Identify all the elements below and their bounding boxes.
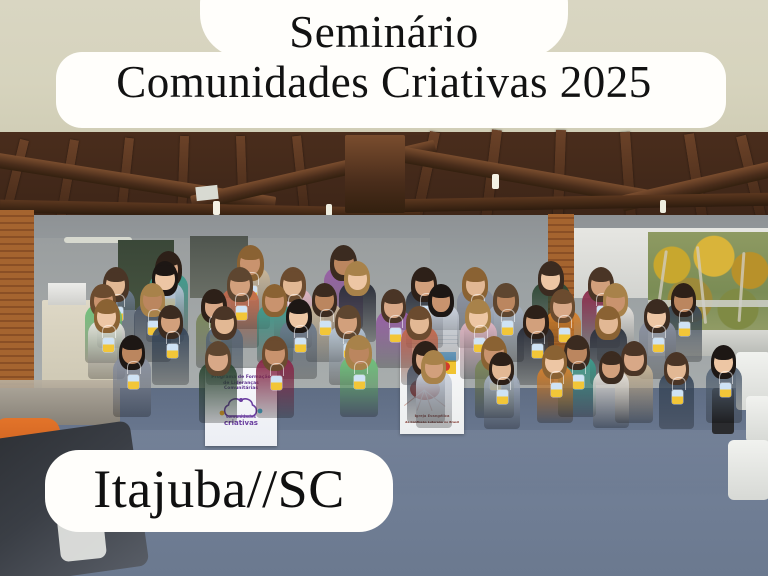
- person-hair-fringe: [424, 354, 443, 364]
- lanyard: [719, 371, 733, 384]
- name-badge: [720, 383, 731, 397]
- city-label-pill: Itajuba//SC: [45, 450, 393, 532]
- lanyard: [389, 315, 403, 328]
- person-hair-fringe: [283, 271, 303, 282]
- lanyard: [294, 325, 308, 338]
- person-hair-fringe: [465, 271, 485, 282]
- person-hair-fringe: [333, 249, 354, 260]
- person-hair-fringe: [161, 309, 181, 319]
- person-hair-fringe: [106, 272, 126, 283]
- lanyard: [102, 325, 116, 338]
- lanyard: [672, 377, 686, 390]
- person: [265, 339, 312, 433]
- person-hair-fringe: [214, 310, 234, 320]
- person-hair-fringe: [122, 339, 143, 350]
- person-hair-fringe: [265, 340, 286, 351]
- person-hair-fringe: [602, 355, 621, 365]
- person: [545, 348, 589, 436]
- person: [349, 337, 396, 431]
- plastic-chair: [728, 440, 768, 500]
- name-badge: [103, 338, 114, 352]
- person-hair-fringe: [155, 265, 175, 276]
- person: [492, 355, 536, 443]
- person-hair-fringe: [667, 356, 686, 366]
- person-hair-fringe: [714, 349, 733, 359]
- person-hair-fringe: [409, 310, 429, 320]
- person-hair-fringe: [431, 288, 451, 298]
- lanyard: [531, 331, 545, 344]
- name-badge: [497, 390, 508, 404]
- person-hair-fringe: [484, 340, 505, 351]
- person-hair-fringe: [230, 271, 250, 282]
- pendant-light: [660, 200, 666, 213]
- person-hair-fringe: [526, 309, 546, 319]
- pendant-light: [213, 201, 220, 215]
- person-hair-fringe: [289, 303, 309, 313]
- name-badge: [354, 375, 365, 389]
- person-hair-fringe: [347, 265, 367, 276]
- title-pill-upper: [200, 0, 568, 58]
- name-badge: [672, 390, 683, 404]
- person-hair-fringe: [553, 293, 573, 303]
- title-pill-lower: [56, 52, 726, 128]
- person-hair-fringe: [492, 356, 511, 366]
- person: [208, 344, 255, 438]
- name-badge: [551, 383, 562, 397]
- person-hair-fringe: [541, 265, 561, 276]
- person: [714, 348, 758, 436]
- person-hair-fringe: [598, 310, 618, 320]
- person-hair-fringe: [606, 287, 626, 297]
- lanyard: [354, 361, 368, 374]
- lanyard: [497, 377, 511, 390]
- person-hair-fringe: [204, 293, 224, 303]
- lanyard: [127, 361, 141, 374]
- lanyard: [474, 325, 488, 338]
- roof-king-post: [345, 135, 405, 213]
- person-hair-fringe: [384, 293, 404, 303]
- person-hair-fringe: [349, 339, 370, 350]
- ceiling-fixture: [195, 185, 218, 201]
- person-hair-fringe: [647, 303, 667, 313]
- lanyard: [270, 363, 284, 376]
- person-hair-fringe: [97, 303, 117, 313]
- person-hair-fringe: [208, 345, 229, 356]
- lanyard: [550, 371, 564, 384]
- title-overlay: Seminário Comunidades Criativas 2025: [0, 0, 768, 128]
- person-hair-fringe: [591, 271, 611, 282]
- person-hair-fringe: [468, 303, 488, 313]
- microwave: [48, 283, 86, 305]
- person: [424, 353, 468, 441]
- person: [667, 355, 711, 443]
- brick-column-left: [0, 210, 34, 390]
- name-badge: [128, 375, 139, 389]
- person-hair-fringe: [338, 309, 358, 319]
- person-hair-fringe: [496, 287, 516, 297]
- person: [122, 337, 169, 431]
- photo-canvas: Programa de Formação de Lideranças Comun…: [0, 0, 768, 576]
- pendant-light: [492, 174, 499, 189]
- lanyard: [652, 325, 666, 338]
- person-hair-fringe: [143, 287, 163, 297]
- name-badge: [271, 376, 282, 390]
- person-hair-fringe: [265, 288, 285, 298]
- person-hair-fringe: [545, 349, 564, 359]
- person-hair-fringe: [240, 249, 261, 260]
- person-hair-fringe: [414, 271, 434, 282]
- person-hair-fringe: [93, 288, 113, 298]
- person: [602, 353, 646, 441]
- person-hair-fringe: [674, 287, 694, 297]
- person-hair-fringe: [315, 287, 335, 297]
- city-label-text: Itajuba//SC: [93, 462, 344, 520]
